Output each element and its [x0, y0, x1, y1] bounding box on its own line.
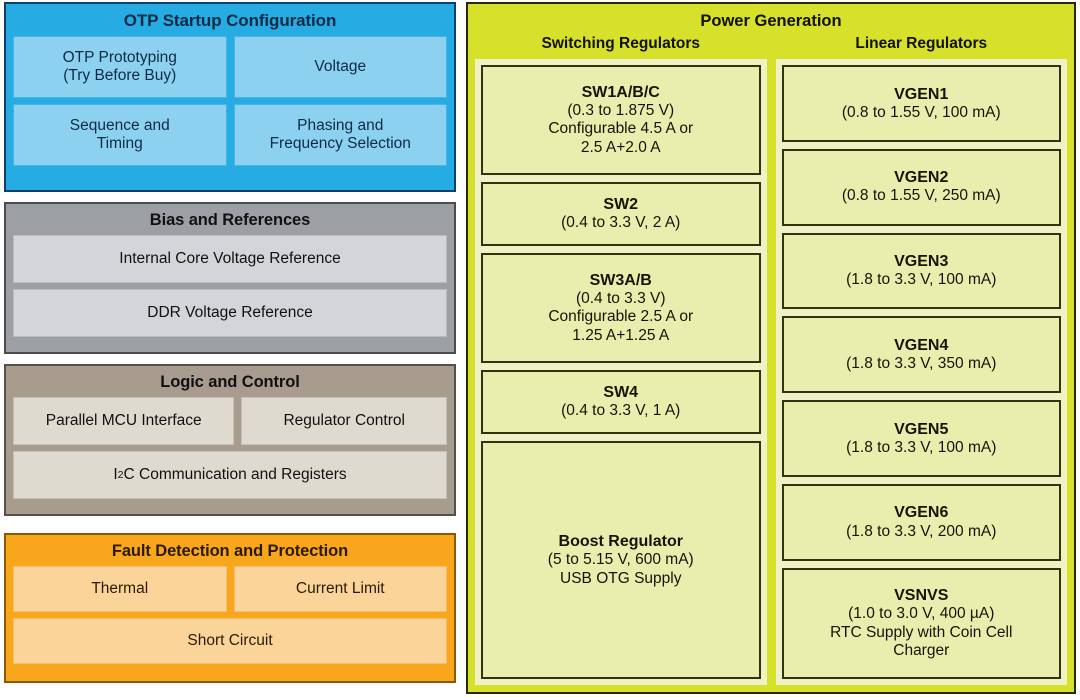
panel-bias-row-2: DDR Voltage Reference	[13, 289, 447, 337]
boost-spec2: USB OTG Supply	[560, 570, 681, 589]
regulator-box-vgen2: VGEN2 (0.8 to 1.55 V, 250 mA)	[782, 149, 1062, 226]
cell-otp-prototyping: OTP Prototyping (Try Before Buy)	[13, 36, 227, 98]
panel-logic-and-control: Logic and Control Parallel MCU Interface…	[4, 364, 456, 516]
panel-bias-row-1: Internal Core Voltage Reference	[13, 235, 447, 283]
sw2-spec1: (0.4 to 3.3 V, 2 A)	[561, 214, 680, 233]
regulator-box-vgen3: VGEN3 (1.8 to 3.3 V, 100 mA)	[782, 233, 1062, 310]
vsnvs-spec3: Charger	[893, 642, 949, 661]
block-diagram: OTP Startup Configuration OTP Prototypin…	[0, 0, 1080, 700]
regulator-box-sw1abc: SW1A/B/C (0.3 to 1.875 V) Configurable 4…	[481, 65, 761, 175]
vsnvs-spec2: RTC Supply with Coin Cell	[830, 624, 1012, 643]
panel-otp-row-1: OTP Prototyping (Try Before Buy) Voltage	[13, 36, 447, 98]
linear-regulators-title: Linear Regulators	[776, 33, 1068, 59]
power-generation-title: Power Generation	[475, 8, 1067, 33]
sw1abc-spec2: Configurable 4.5 A or	[548, 120, 693, 139]
regulator-box-vgen5: VGEN5 (1.8 to 3.3 V, 100 mA)	[782, 400, 1062, 477]
panel-otp-startup-configuration: OTP Startup Configuration OTP Prototypin…	[4, 2, 456, 192]
regulator-box-vgen4: VGEN4 (1.8 to 3.3 V, 350 mA)	[782, 316, 1062, 393]
panel-fault-row-2: Short Circuit	[13, 618, 447, 664]
cell-internal-core-voltage-reference: Internal Core Voltage Reference	[13, 235, 447, 283]
cell-otp-prototyping-line1: OTP Prototyping	[63, 49, 177, 67]
panel-power-generation: Power Generation Switching Regulators SW…	[466, 2, 1076, 694]
cell-short-circuit: Short Circuit	[13, 618, 447, 664]
vgen4-name: VGEN4	[894, 336, 948, 355]
cell-otp-phasing-frequency-line1: Phasing and	[270, 117, 411, 135]
sw1abc-name: SW1A/B/C	[582, 83, 660, 102]
cell-ddr-voltage-reference: DDR Voltage Reference	[13, 289, 447, 337]
panel-logic-row-2: I2C Communication and Registers	[13, 451, 447, 499]
sw4-name: SW4	[603, 383, 638, 402]
cell-current-limit: Current Limit	[234, 566, 448, 612]
cell-i2c-communication-and-registers: I2C Communication and Registers	[13, 451, 447, 499]
sw4-spec1: (0.4 to 3.3 V, 1 A)	[561, 402, 680, 421]
panel-logic-row-1: Parallel MCU Interface Regulator Control	[13, 397, 447, 445]
cell-otp-voltage-line1: Voltage	[314, 58, 366, 76]
vgen5-spec1: (1.8 to 3.3 V, 100 mA)	[846, 439, 996, 458]
cell-parallel-mcu-interface: Parallel MCU Interface	[13, 397, 234, 445]
linear-regulators-list: VGEN1 (0.8 to 1.55 V, 100 mA) VGEN2 (0.8…	[776, 59, 1068, 685]
vgen3-name: VGEN3	[894, 252, 948, 271]
cell-otp-sequence-timing-line1: Sequence and	[70, 117, 170, 135]
sw1abc-spec3: 2.5 A+2.0 A	[581, 139, 661, 158]
vgen1-name: VGEN1	[894, 85, 948, 104]
regulator-box-vsnvs: VSNVS (1.0 to 3.0 V, 400 µA) RTC Supply …	[782, 568, 1062, 679]
cell-otp-sequence-timing-line2: Timing	[70, 135, 170, 153]
regulator-box-sw4: SW4 (0.4 to 3.3 V, 1 A)	[481, 370, 761, 434]
vgen1-spec1: (0.8 to 1.55 V, 100 mA)	[842, 104, 1001, 123]
cell-otp-phasing-frequency-line2: Frequency Selection	[270, 135, 411, 153]
regulator-box-vgen1: VGEN1 (0.8 to 1.55 V, 100 mA)	[782, 65, 1062, 142]
sw3ab-spec2: Configurable 2.5 A or	[548, 308, 693, 327]
i2c-prefix: I	[113, 466, 117, 484]
switching-regulators-list: SW1A/B/C (0.3 to 1.875 V) Configurable 4…	[475, 59, 767, 685]
panel-otp-row-2: Sequence and Timing Phasing and Frequenc…	[13, 104, 447, 166]
regulator-box-boost: Boost Regulator (5 to 5.15 V, 600 mA) US…	[481, 441, 761, 679]
vgen2-spec1: (0.8 to 1.55 V, 250 mA)	[842, 187, 1001, 206]
vgen6-spec1: (1.8 to 3.3 V, 200 mA)	[846, 523, 996, 542]
cell-otp-voltage: Voltage	[234, 36, 448, 98]
column-linear-regulators: Linear Regulators VGEN1 (0.8 to 1.55 V, …	[776, 33, 1068, 685]
panel-fault-detection-and-protection: Fault Detection and Protection Thermal C…	[4, 533, 456, 683]
panel-logic-title: Logic and Control	[13, 371, 447, 397]
column-switching-regulators: Switching Regulators SW1A/B/C (0.3 to 1.…	[475, 33, 767, 685]
vsnvs-spec1: (1.0 to 3.0 V, 400 µA)	[848, 605, 994, 624]
sw3ab-spec3: 1.25 A+1.25 A	[572, 327, 669, 346]
i2c-suffix: C Communication and Registers	[124, 466, 347, 484]
cell-thermal: Thermal	[13, 566, 227, 612]
vgen3-spec1: (1.8 to 3.3 V, 100 mA)	[846, 271, 996, 290]
regulator-box-vgen6: VGEN6 (1.8 to 3.3 V, 200 mA)	[782, 484, 1062, 561]
vgen2-name: VGEN2	[894, 168, 948, 187]
vgen5-name: VGEN5	[894, 420, 948, 439]
power-columns: Switching Regulators SW1A/B/C (0.3 to 1.…	[475, 33, 1067, 685]
cell-otp-phasing-frequency: Phasing and Frequency Selection	[234, 104, 448, 166]
cell-otp-prototyping-line2: (Try Before Buy)	[63, 67, 177, 85]
sw3ab-spec1: (0.4 to 3.3 V)	[576, 290, 666, 309]
left-column: OTP Startup Configuration OTP Prototypin…	[4, 2, 456, 696]
vgen6-name: VGEN6	[894, 503, 948, 522]
panel-bias-title: Bias and References	[13, 209, 447, 235]
panel-otp-title: OTP Startup Configuration	[13, 9, 447, 36]
panel-fault-row-1: Thermal Current Limit	[13, 566, 447, 612]
panel-fault-title: Fault Detection and Protection	[13, 540, 447, 566]
regulator-box-sw2: SW2 (0.4 to 3.3 V, 2 A)	[481, 182, 761, 246]
sw2-name: SW2	[603, 195, 638, 214]
sw3ab-name: SW3A/B	[590, 271, 652, 290]
vgen4-spec1: (1.8 to 3.3 V, 350 mA)	[846, 355, 996, 374]
regulator-box-sw3ab: SW3A/B (0.4 to 3.3 V) Configurable 2.5 A…	[481, 253, 761, 363]
boost-name: Boost Regulator	[559, 532, 683, 551]
boost-spec1: (5 to 5.15 V, 600 mA)	[548, 551, 694, 570]
cell-otp-sequence-timing: Sequence and Timing	[13, 104, 227, 166]
panel-bias-and-references: Bias and References Internal Core Voltag…	[4, 202, 456, 354]
cell-regulator-control: Regulator Control	[241, 397, 447, 445]
switching-regulators-title: Switching Regulators	[475, 33, 767, 59]
vsnvs-name: VSNVS	[894, 586, 948, 605]
sw1abc-spec1: (0.3 to 1.875 V)	[567, 102, 674, 121]
